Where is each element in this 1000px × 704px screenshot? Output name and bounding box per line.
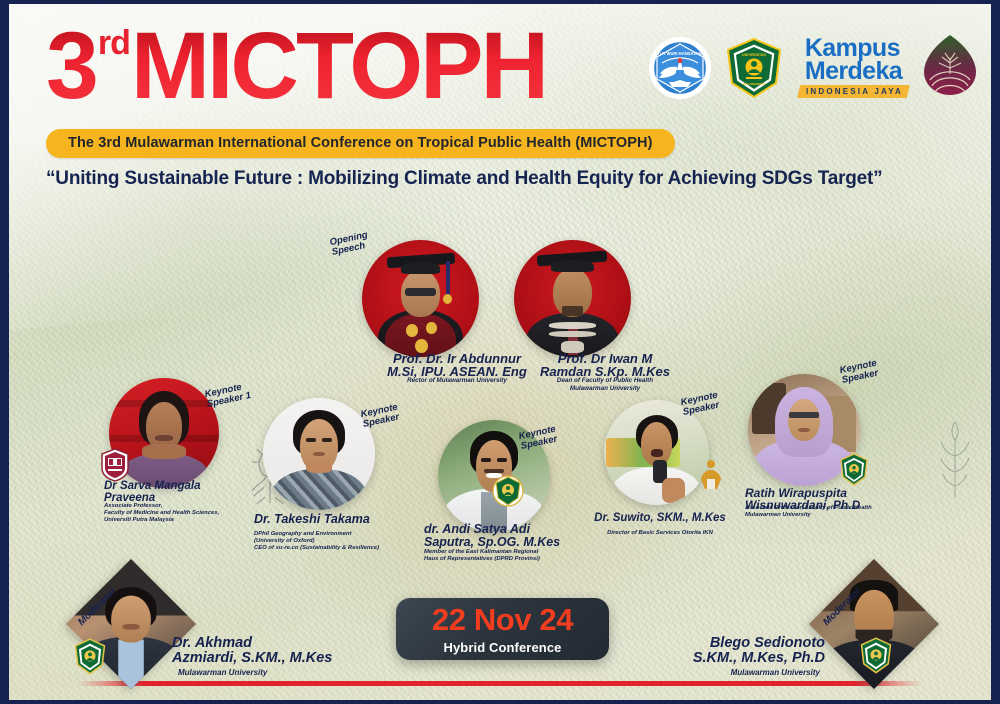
moderator-name-blego-sedionoto: Blego Sedionoto S.KM., M.Kes, Ph.D (615, 636, 825, 666)
mulawarman-university-icon: UNIVERSITAS MULAWARMAN (724, 37, 784, 99)
title-acronym: MICTOPH (131, 22, 546, 111)
svg-text:MULAWARMAN: MULAWARMAN (743, 82, 765, 86)
mulawarman-badge-icon (72, 637, 108, 677)
universiti-putra-malaysia-badge-icon (100, 448, 130, 482)
speaker-name-sarva-mangala: Dr Sarva Mangala Praveena (104, 481, 274, 505)
portrait-iwan-ramdan (514, 240, 631, 357)
mulawarman-badge-icon (858, 636, 894, 676)
speaker-photo-abdunnur (362, 240, 479, 357)
kampus-merdeka-line2: Merdeka (805, 60, 902, 83)
frame-bottom (0, 700, 1000, 704)
frame-left (0, 0, 9, 704)
speaker-name-suwito: Dr. Suwito, SKM., M.Kes (580, 513, 740, 525)
event-format: Hybrid Conference (443, 640, 561, 655)
speaker-affiliation-sarva-mangala: Associate Professor, Faculty of Medicine… (104, 503, 279, 525)
conference-poster: 3 rd MICTOPH TUT WURI HANDAYANI (0, 0, 1000, 704)
tut-wuri-handayani-icon: TUT WURI HANDAYANI (651, 39, 709, 97)
speaker-affiliation-andi-satya: Member of the East Kalimantan Regional H… (424, 549, 629, 563)
speaker-affiliation-iwan-ramdan: Dean of Faculty of Public Health Mulawar… (505, 377, 705, 392)
mulawarman-university-logo: UNIVERSITAS MULAWARMAN (723, 37, 785, 99)
frame-top (0, 0, 1000, 4)
event-date: 22 Nov 24 (432, 604, 573, 635)
tut-wuri-handayani-logo: TUT WURI HANDAYANI (649, 37, 711, 99)
svg-text:TUT WURI HANDAYANI: TUT WURI HANDAYANI (657, 51, 702, 56)
svg-text:UNIVERSITAS: UNIVERSITAS (742, 53, 766, 57)
event-date-chip: 22 Nov 24 Hybrid Conference (396, 598, 609, 660)
speaker-affiliation-suwito: Director of Basic Services Otorita IKN (580, 530, 740, 537)
logo-strip: TUT WURI HANDAYANI UNIVERSITAS (649, 34, 978, 101)
mulawarman-badge-icon (838, 452, 870, 488)
title-edition-number: 3 (46, 22, 97, 111)
moderator-affiliation-blego-sedionoto: Mulawarman University (615, 668, 820, 678)
conference-theme: “Uniting Sustainable Future : Mobilizing… (46, 168, 940, 190)
dprd-badge-icon (492, 473, 524, 509)
moderator-name-akhmad-azmiardi: Dr. Akhmad Azmiardi, S.KM., M.Kes (172, 636, 402, 666)
speaker-photo-iwan-ramdan (514, 240, 631, 357)
kampus-merdeka-logo: Kampus Merdeka INDONESIA JAYA (797, 37, 910, 98)
coral-line-art-icon (930, 420, 980, 500)
moderator-affiliation-akhmad-azmiardi: Mulawarman University (178, 668, 408, 678)
portrait-abdunnur (362, 240, 479, 357)
tree-leaf-icon (922, 34, 978, 96)
subtitle-banner: The 3rd Mulawarman International Confere… (46, 129, 675, 158)
speaker-affiliation-ratih: Associate Professor, Faculty of Public H… (745, 505, 945, 519)
bottom-red-rule (78, 681, 922, 686)
otorita-ikn-badge-icon (694, 455, 728, 491)
tree-leaf-logo (922, 34, 978, 101)
kampus-merdeka-tagline: INDONESIA JAYA (797, 85, 910, 98)
title-edition-ordinal: rd (98, 24, 130, 63)
portrait-takeshi-takama (263, 398, 375, 510)
speaker-name-iwan-ramdan: Prof. Dr Iwan M Ramdan S.Kp. M.Kes (505, 352, 705, 379)
poster-title: 3 rd MICTOPH (46, 22, 546, 111)
speaker-photo-takeshi-takama (263, 398, 375, 510)
speaker-name-takeshi-takama: Dr. Takeshi Takama (254, 513, 449, 526)
frame-right (991, 0, 1000, 704)
